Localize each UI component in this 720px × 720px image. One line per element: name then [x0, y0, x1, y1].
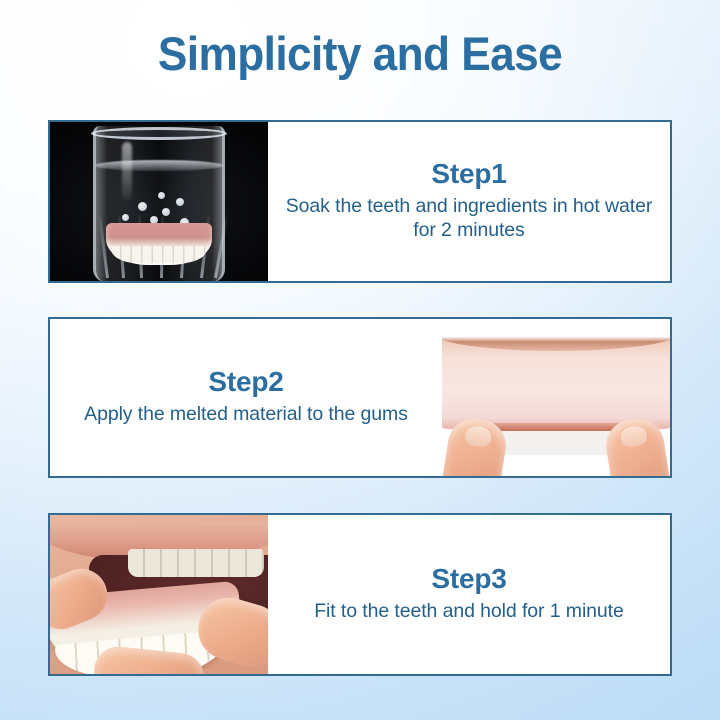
glass-facet: [214, 217, 228, 279]
step-3-heading: Step3: [431, 564, 506, 593]
glass-rim: [91, 127, 227, 140]
step-card-1-text: Step1 Soak the teeth and ingredients in …: [268, 122, 670, 281]
glass-of-water-with-denture-image: [50, 122, 268, 281]
step-1-body: Soak the teeth and ingredients in hot wa…: [278, 194, 660, 242]
infographic-poster: Simplicity and Ease: [0, 0, 720, 720]
step-card-3-text: Step3 Fit to the teeth and hold for 1 mi…: [268, 515, 670, 674]
mouth-scene: [50, 515, 268, 674]
fingernail: [619, 424, 648, 448]
bubble: [158, 192, 165, 199]
step-2-heading: Step2: [208, 367, 283, 396]
page-title: Simplicity and Ease: [22, 26, 699, 81]
gum-material-held-in-fingers-image: [442, 319, 670, 476]
bubble: [122, 214, 129, 221]
natural-upper-teeth: [128, 549, 263, 577]
step-2-body: Apply the melted material to the gums: [84, 402, 408, 426]
step-1-heading: Step1: [431, 159, 506, 188]
bubble: [138, 202, 147, 211]
glass-highlight: [122, 142, 132, 200]
fingernail: [464, 424, 493, 448]
step-card-3: Step3 Fit to the teeth and hold for 1 mi…: [48, 513, 672, 676]
step-card-1: Step1 Soak the teeth and ingredients in …: [48, 120, 672, 283]
step-card-2-text: Step2 Apply the melted material to the g…: [50, 319, 442, 476]
gum-scene: [442, 319, 670, 476]
step-card-2: Step2 Apply the melted material to the g…: [48, 317, 672, 478]
bubble: [176, 198, 184, 206]
bubble: [162, 208, 170, 216]
step-3-body: Fit to the teeth and hold for 1 minute: [314, 599, 623, 623]
denture-fitted-to-teeth-image: [50, 515, 268, 674]
water-surface-line: [95, 160, 223, 171]
denture-in-glass: [106, 223, 212, 265]
glass-scene: [50, 122, 268, 281]
